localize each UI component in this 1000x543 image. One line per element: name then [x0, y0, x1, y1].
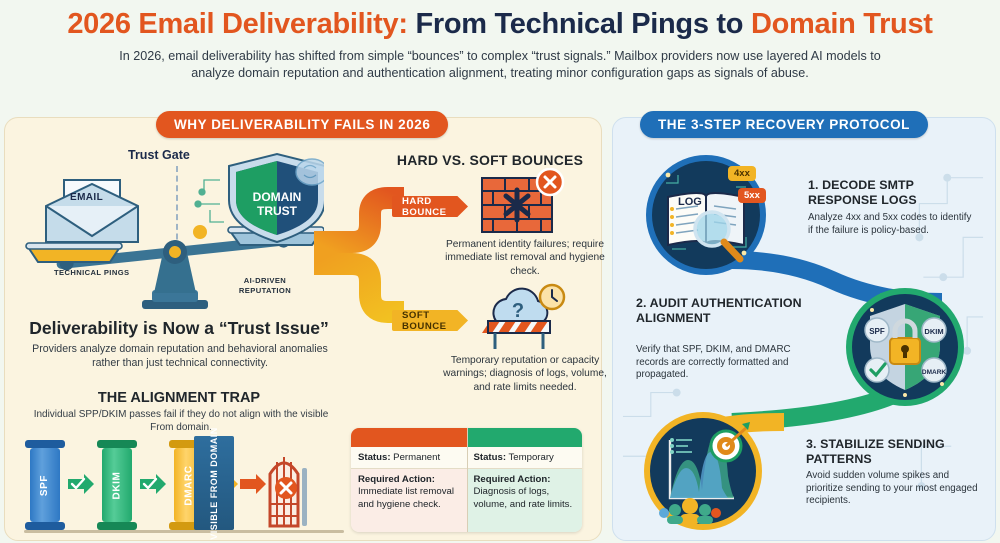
shield-lock-icon: SPF DKIM DMARK — [852, 294, 958, 400]
svg-text:SPF: SPF — [869, 327, 885, 336]
soft-bounce-tag: SOFT BOUNCE — [392, 310, 468, 331]
arrow-spf-to-dkim — [68, 474, 94, 494]
table-row-status-temporary: Status: Temporary — [467, 447, 583, 469]
step-3-desc: Avoid sudden volume spikes and prioritiz… — [806, 470, 982, 508]
left-headline: Deliverability is Now a “Trust Issue” — [14, 318, 344, 339]
bounce-comparison-table: Status: Permanent Required Action: Immed… — [351, 428, 582, 532]
table-header-temporary — [467, 428, 583, 447]
page-subtitle: In 2026, email deliverability has shifte… — [110, 48, 890, 82]
scale-caption-right: AI-DRIVEN REPUTATION — [220, 276, 310, 296]
envelope-icon — [46, 180, 138, 242]
step-1-badge-5xx: 5xx — [738, 188, 766, 203]
pillar-dkim-label: DKIM — [102, 448, 132, 522]
hard-bounce-tag: HARD BOUNCE — [392, 196, 468, 217]
svg-text:DMARK: DMARK — [922, 369, 946, 376]
left-subtext: Providers analyze domain reputation and … — [24, 342, 336, 370]
table-row-action-temporary: Required Action: Diagnosis of logs, volu… — [467, 469, 583, 532]
brick-wall-icon — [480, 168, 566, 238]
step-1-desc: Analyze 4xx and 5xx codes to identify if… — [808, 212, 978, 237]
hard-bounce-text: Permanent identity failures; require imm… — [440, 238, 610, 278]
soft-bounce-text: Temporary reputation or capacity warning… — [440, 354, 610, 394]
pillar-spf-label: SPF — [30, 448, 60, 522]
bounces-heading: HARD VS. SOFT BOUNCES — [380, 152, 600, 168]
table-header-permanent — [351, 428, 467, 447]
envelope-label: EMAIL — [70, 192, 103, 203]
table-column-permanent: Status: Permanent Required Action: Immed… — [351, 428, 467, 532]
pillar-spf: SPF — [30, 440, 60, 530]
shield-label: DOMAIN TRUST — [232, 190, 322, 218]
title-part-2: From Technical Pings to — [408, 8, 751, 40]
table-divider — [467, 428, 468, 532]
blocked-gate-icon — [266, 448, 310, 530]
left-panel-pill: WHY DELIVERABILITY FAILS IN 2026 — [156, 111, 448, 138]
arrow-domain-to-gate — [240, 474, 266, 494]
pillar-ground — [24, 530, 344, 533]
svg-text:?: ? — [512, 300, 524, 322]
title-part-1: 2026 Email Deliverability: — [67, 8, 407, 40]
visible-from-domain-block: VISIBLE FROM DOMAIN — [194, 436, 234, 530]
infographic-canvas: 2026 Email Deliverability: From Technica… — [0, 0, 1000, 543]
alignment-pillars: SPF DKIM DMARC VISIBLE FROM DOMAIN — [24, 430, 344, 540]
svg-text:LOG: LOG — [678, 196, 702, 208]
trust-scale-illustration: Trust Gate — [24, 148, 324, 313]
scale-caption-left: TECHNICAL PINGS — [54, 268, 129, 277]
step-1-badge-4xx: 4xx — [728, 166, 756, 181]
table-row-action-permanent: Required Action: Immediate list removal … — [351, 469, 467, 532]
step-1-title: 1. DECODE SMTP RESPONSE LOGS — [808, 178, 978, 207]
step-2-desc: Verify that SPF, DKIM, and DMARC records… — [636, 344, 808, 382]
header: 2026 Email Deliverability: From Technica… — [0, 0, 1000, 104]
cloud-barrier-clock-icon: ? — [480, 283, 566, 353]
right-panel-pill: THE 3-STEP RECOVERY PROTOCOL — [640, 111, 928, 138]
arrow-dkim-to-dmarc — [140, 474, 166, 494]
table-column-temporary: Status: Temporary Required Action: Diagn… — [467, 428, 583, 532]
pillar-dkim: DKIM — [102, 440, 132, 530]
table-row-status-permanent: Status: Permanent — [351, 447, 467, 469]
page-title: 2026 Email Deliverability: From Technica… — [0, 8, 1000, 41]
step-3-title: 3. STABILIZE SENDING PATTERNS — [806, 437, 982, 466]
step-2-title: 2. AUDIT AUTHENTICATION ALIGNMENT — [636, 296, 816, 325]
title-part-3: Domain Trust — [751, 8, 933, 40]
svg-text:DKIM: DKIM — [924, 327, 943, 336]
alignment-trap-heading: THE ALIGNMENT TRAP — [14, 390, 344, 406]
chart-target-audience-icon — [650, 418, 756, 524]
